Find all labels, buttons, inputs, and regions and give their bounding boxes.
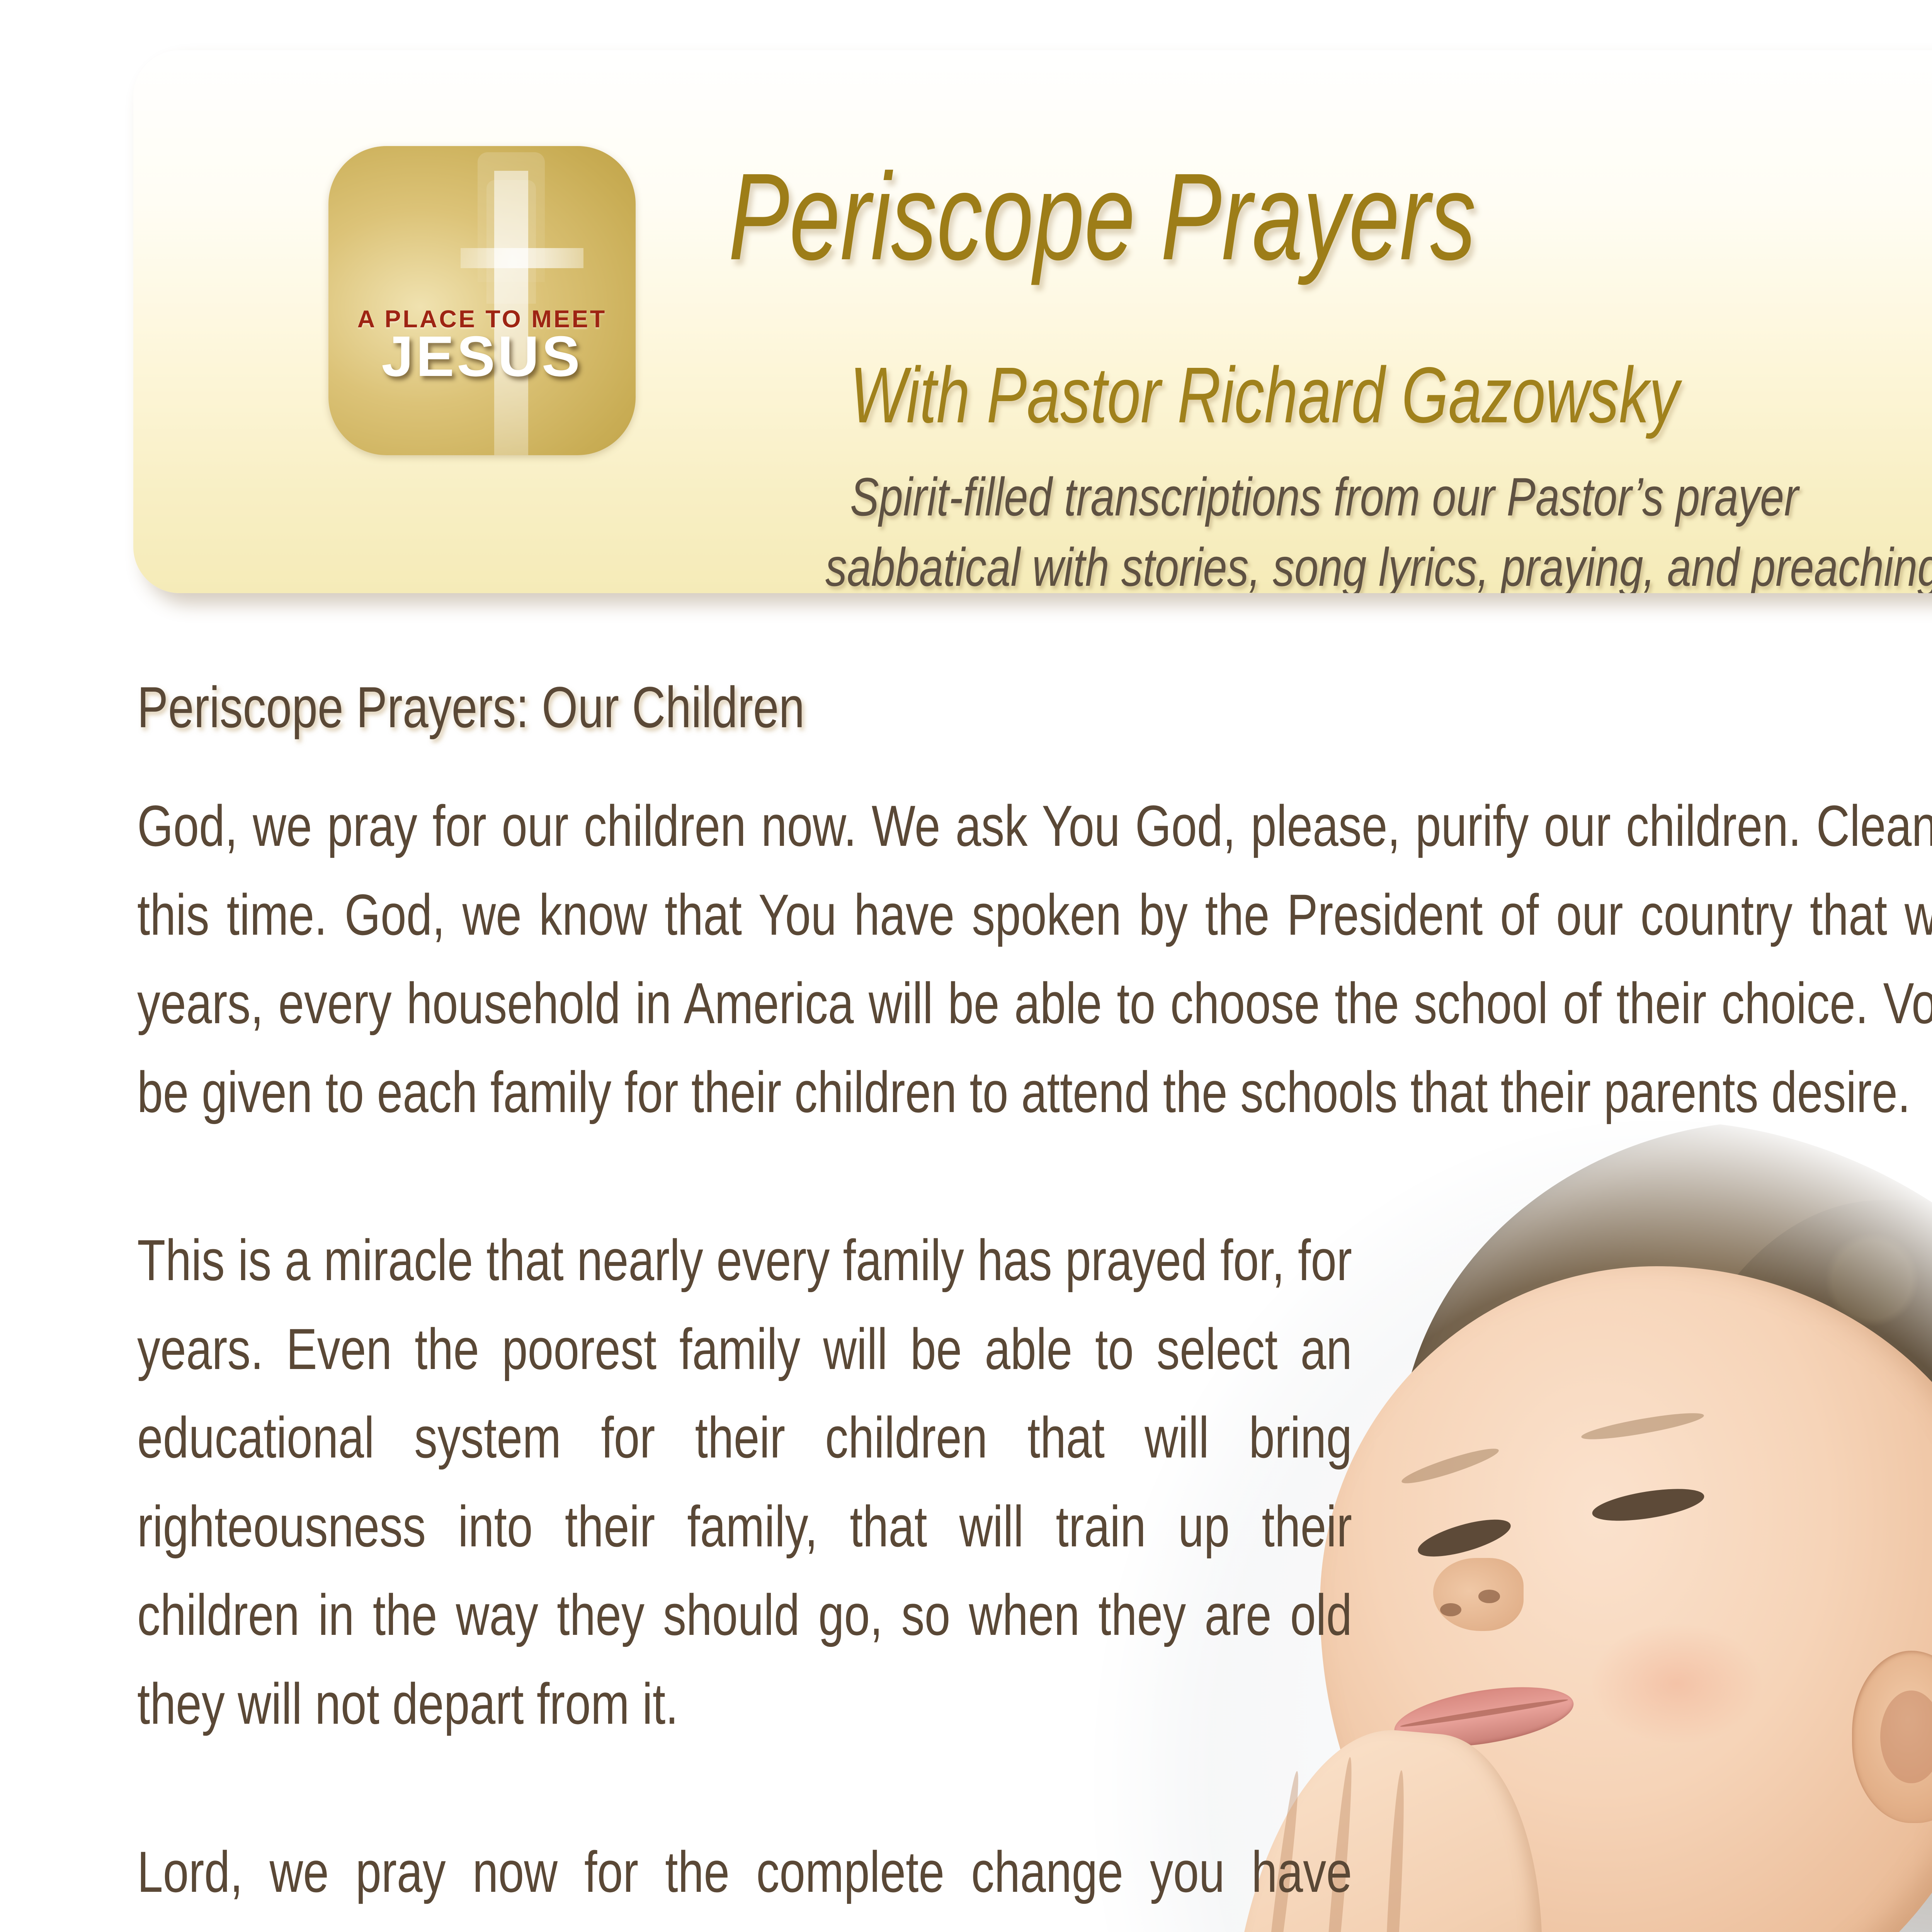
- section-heading: Periscope Prayers: Our Children: [137, 678, 1757, 736]
- paragraph-3: Lord, we pray now for the complete chang…: [137, 1828, 1352, 1932]
- header-banner: A PLACE TO MEET JESUS Periscope Prayers …: [133, 50, 1932, 593]
- logo-wordmark: JESUS: [328, 324, 636, 389]
- paragraph-1: God, we pray for our children now. We as…: [137, 782, 1932, 1136]
- tagline-line-1: Spirit-filled transcriptions from our Pa…: [850, 466, 1798, 527]
- page-title: Periscope Prayers: [728, 155, 1844, 278]
- document-body: Periscope Prayers: Our Children God, we …: [137, 678, 1932, 1932]
- tagline-line-2: sabbatical with stories, song lyrics, pr…: [825, 532, 1932, 593]
- page-tagline: Spirit-filled transcriptions from our Pa…: [850, 462, 1932, 593]
- paragraph-2: This is a miracle that nearly every fami…: [137, 1216, 1352, 1748]
- ministry-logo-tile: A PLACE TO MEET JESUS: [328, 146, 636, 455]
- cross-icon: [328, 146, 636, 455]
- page-subtitle: With Pastor Richard Gazowsky: [850, 355, 1932, 435]
